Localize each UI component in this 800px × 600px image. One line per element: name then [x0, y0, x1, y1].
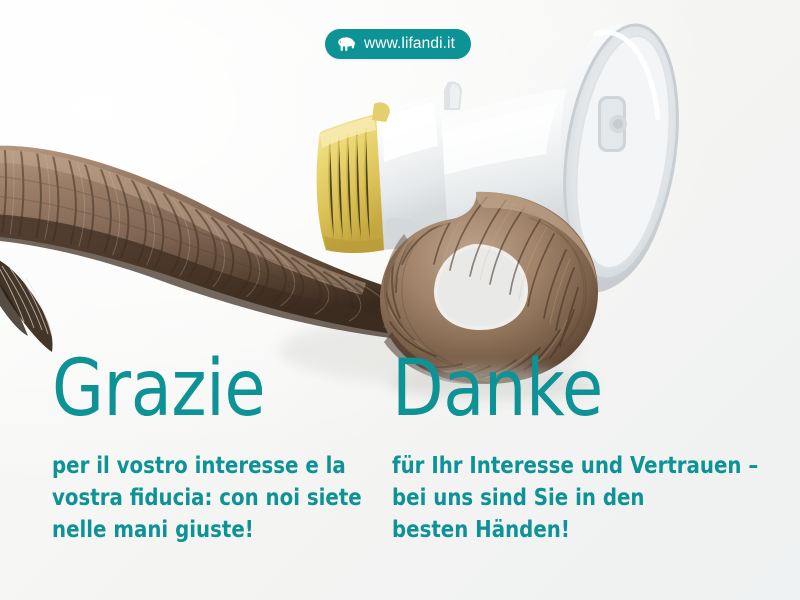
poster-canvas: www.lifandi.it Grazie per il vostro inte… — [0, 0, 800, 600]
german-headline: Danke — [392, 352, 727, 426]
italian-subtitle-line-1: per il vostro interesse e la — [52, 450, 327, 482]
italian-subtitle: per il vostro interesse e la vostra fidu… — [52, 450, 327, 546]
elephant-icon — [337, 37, 356, 52]
german-subtitle-line-3: besten Händen! — [392, 514, 727, 546]
italian-column: Grazie per il vostro interesse e la vost… — [52, 352, 372, 546]
italian-headline: Grazie — [52, 352, 327, 426]
german-subtitle: für Ihr Interesse und Vertrauen – bei un… — [392, 450, 727, 546]
german-column: Danke für Ihr Interesse und Vertrauen – … — [392, 352, 782, 546]
website-badge[interactable]: www.lifandi.it — [325, 29, 471, 59]
italian-subtitle-line-2: vostra fiducia: con noi siete — [52, 482, 327, 514]
italian-subtitle-line-3: nelle mani giuste! — [52, 514, 327, 546]
german-subtitle-line-1: für Ihr Interesse und Vertrauen – — [392, 450, 727, 482]
badge-url-text: www.lifandi.it — [364, 36, 455, 52]
german-subtitle-line-2: bei uns sind Sie in den — [392, 482, 727, 514]
